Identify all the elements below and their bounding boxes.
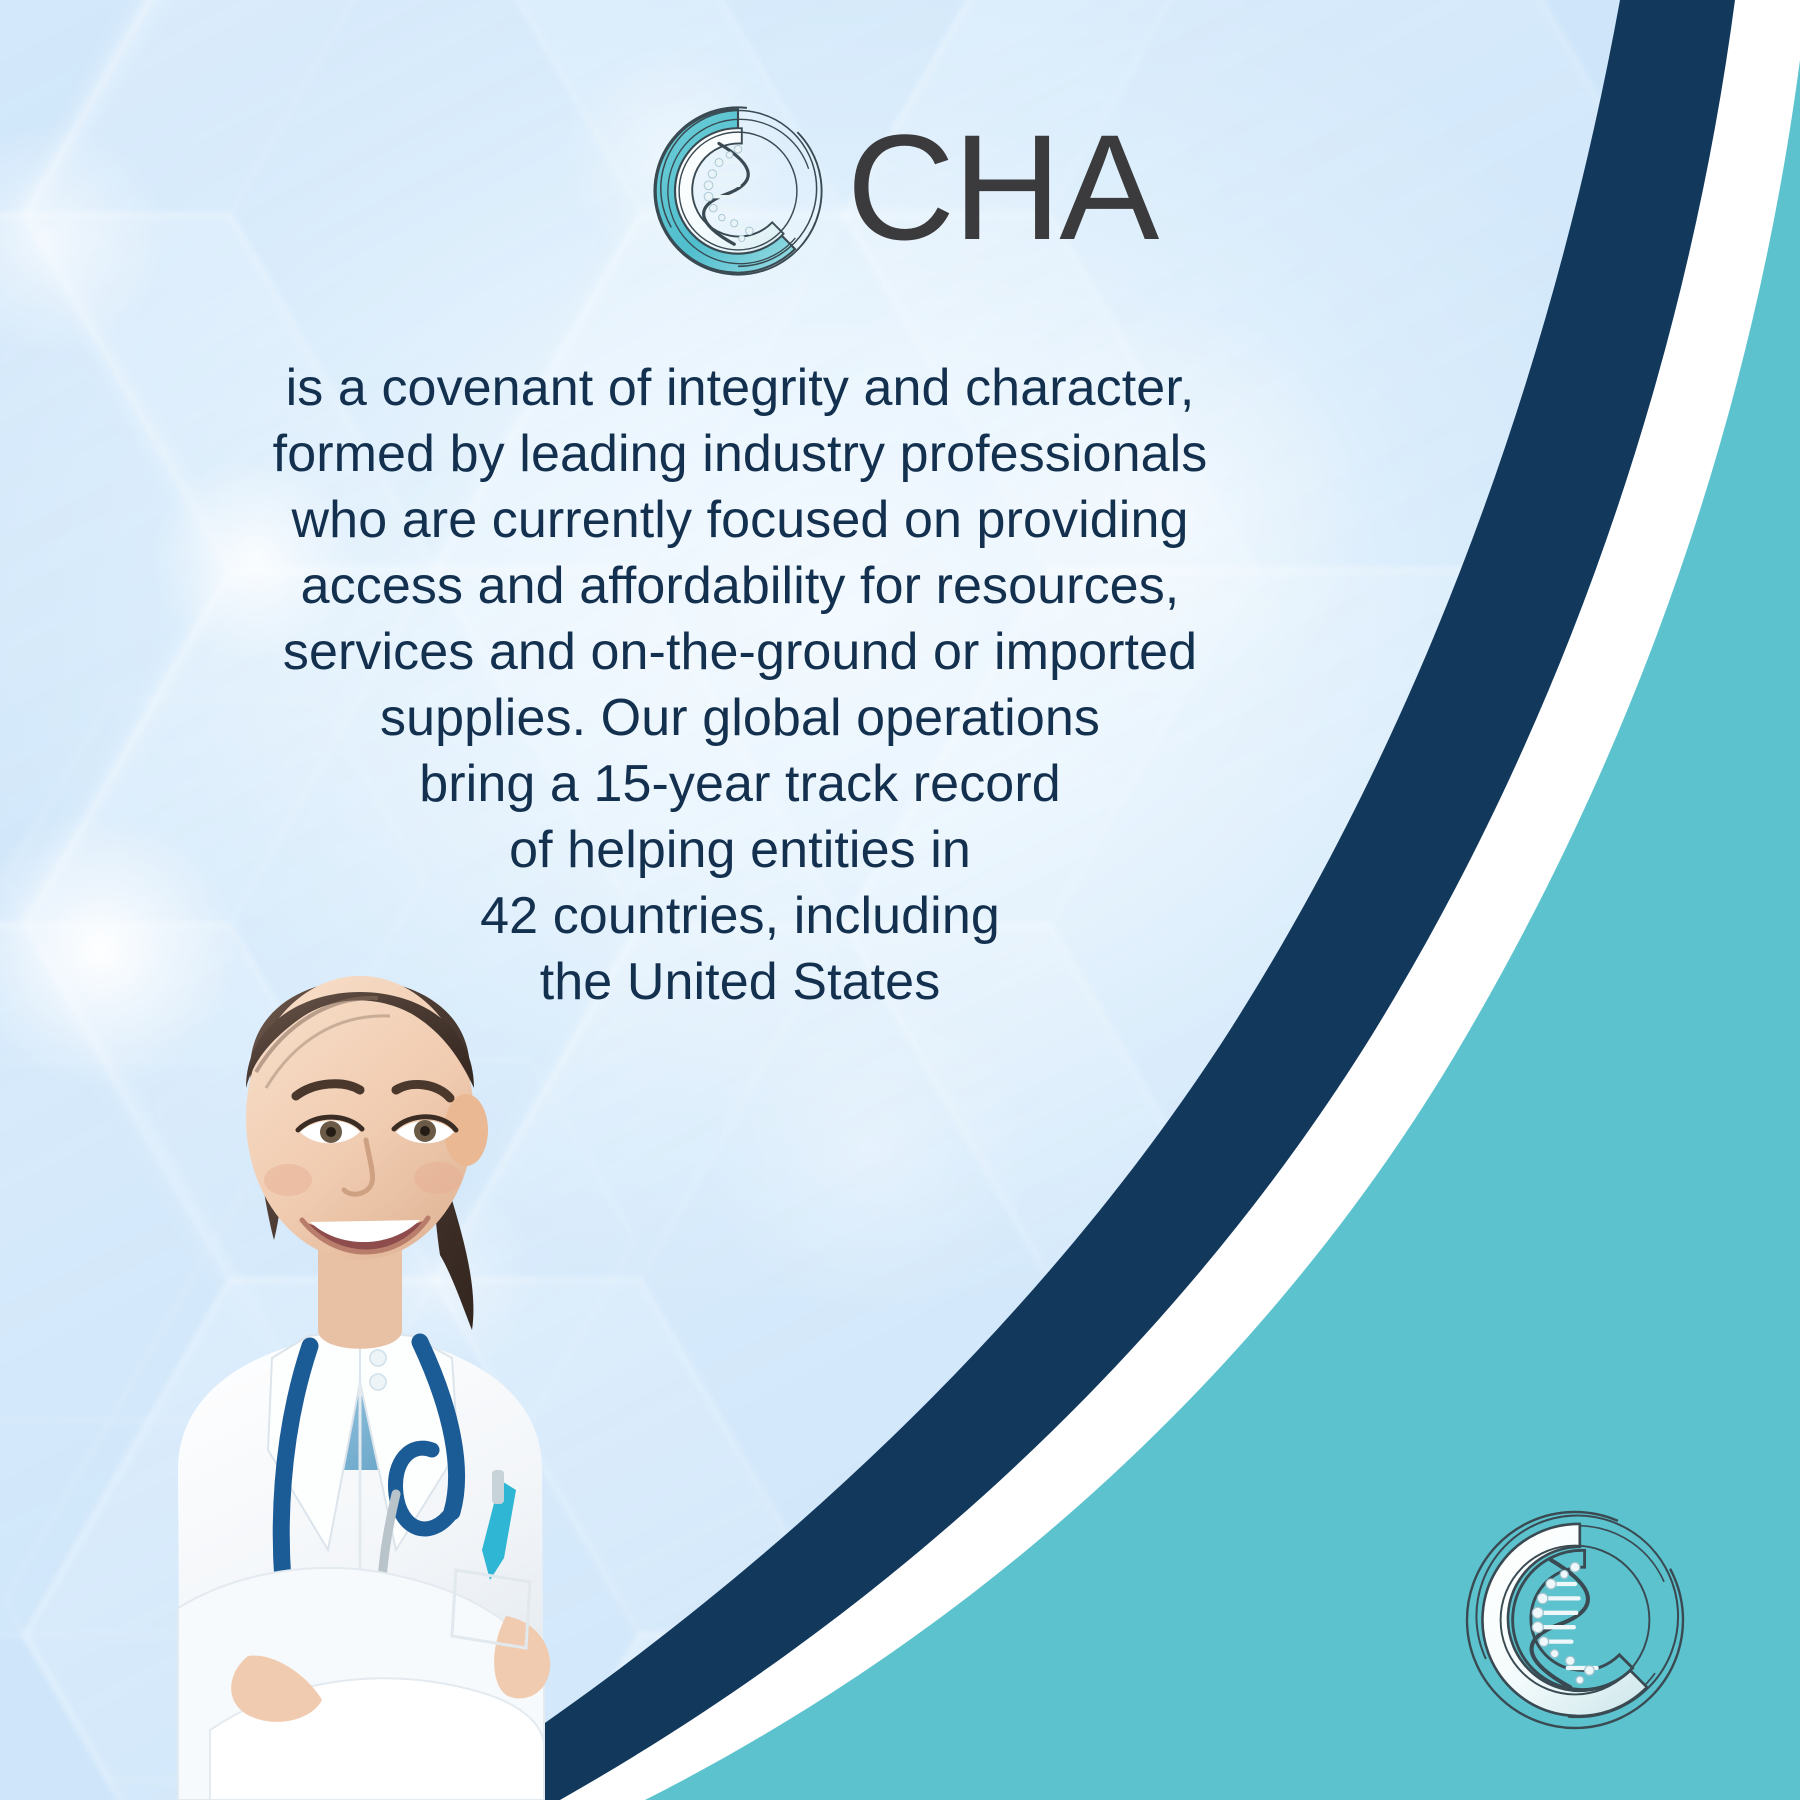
copy-line: formed by leading industry professionals — [150, 421, 1330, 487]
copy-line: access and affordability for resources, — [150, 553, 1330, 619]
cha-logo-watermark — [1455, 1500, 1695, 1740]
copy-line: who are currently focused on providing — [150, 487, 1330, 553]
doctor-photo — [60, 770, 640, 1800]
copy-line: supplies. Our global operations — [150, 685, 1330, 751]
poster-canvas: CHA is a covenant of integrity and chara… — [0, 0, 1800, 1800]
cha-logo-icon — [643, 96, 833, 286]
copy-line: is a covenant of integrity and character… — [150, 355, 1330, 421]
brand-wordmark: CHA — [847, 112, 1158, 262]
brand-lockup: CHA — [0, 96, 1800, 286]
copy-line: services and on-the-ground or imported — [150, 619, 1330, 685]
